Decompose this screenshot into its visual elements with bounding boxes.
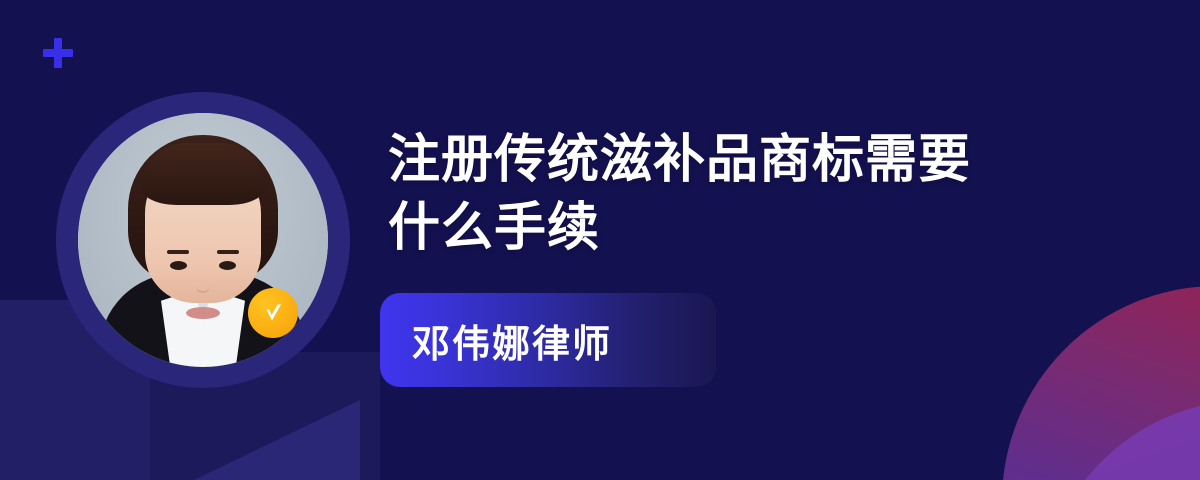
portrait-nose (196, 281, 210, 293)
lawyer-name-label: 邓伟娜律师 (380, 313, 612, 368)
page-title: 注册传统滋补品商标需要 什么手续 (388, 126, 1088, 262)
plus-icon (43, 38, 73, 68)
portrait-fringe (141, 143, 265, 205)
portrait-eyebrow-right (167, 250, 189, 254)
headline-block: 注册传统滋补品商标需要 什么手续 (388, 126, 1088, 262)
portrait-eye-left (219, 261, 236, 270)
lawyer-question-banner: 注册传统滋补品商标需要 什么手续 邓伟娜律师 (0, 0, 1200, 480)
lawyer-name-badge[interactable]: 邓伟娜律师 (380, 293, 716, 387)
portrait-eye-right (170, 261, 187, 270)
verified-check-icon (248, 288, 298, 338)
portrait-mouth (186, 307, 220, 319)
avatar (56, 92, 350, 388)
portrait-eyebrow-left (217, 250, 239, 254)
